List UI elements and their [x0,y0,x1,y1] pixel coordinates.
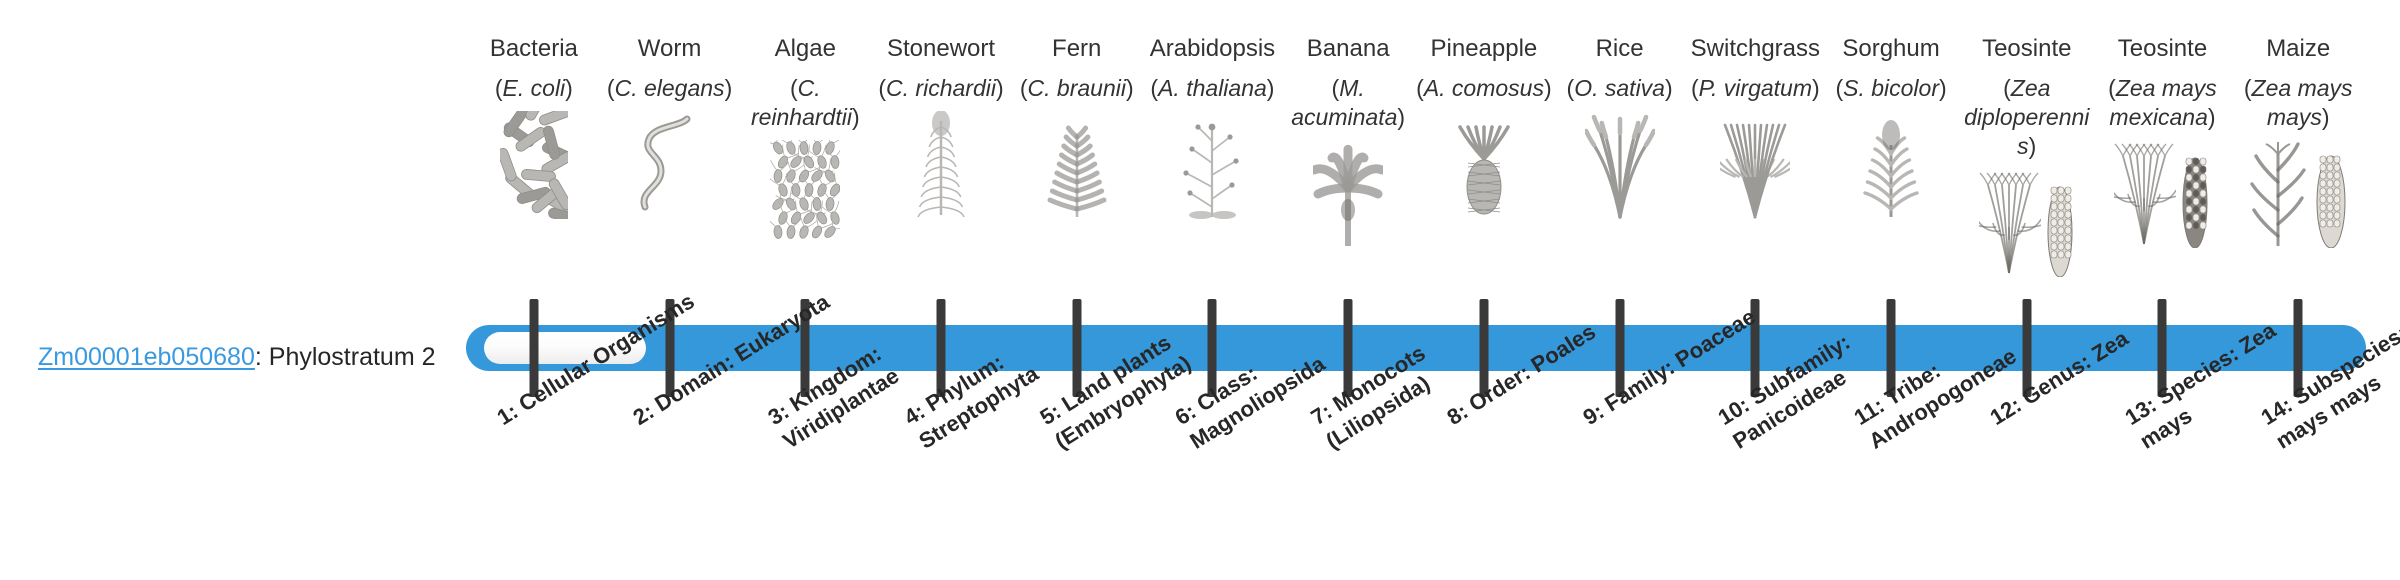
worm-icon [602,111,738,219]
taxon-column-sorghum-11: Sorghum(S. bicolor) [1823,34,1959,219]
maize-icon [2230,140,2366,248]
taxon-common-name: Bacteria [490,34,578,64]
taxon-common-name: Arabidopsis [1150,34,1275,64]
taxon-common-name: Pineapple [1431,34,1538,64]
taxon-latin-name: (Zea mays mexicana) [2095,74,2231,132]
rank-number: 2: [628,398,658,430]
pineapple-icon [1416,111,1552,219]
banana-icon [1280,140,1416,248]
taxon-column-stonewort-4: Stonewort(C. richardii) [873,34,1009,219]
taxon-latin-name: (C. elegans) [607,74,732,103]
taxon-column-fern-5: Fern(C. braunii) [1009,34,1145,219]
rank-number: 12: [1985,392,2025,430]
taxon-latin-name: (C. braunii) [1020,74,1134,103]
taxon-latin-name: (S. bicolor) [1835,74,1946,103]
taxon-column-bacteria-1: Bacteria(E. coli) [466,34,602,219]
gene-label-separator: : [255,343,269,371]
taxon-common-name: Fern [1052,34,1101,64]
taxon-column-worm-2: Worm(C. elegans) [602,34,738,219]
teosinte-icon [1959,169,2095,277]
taxon-common-name: Banana [1307,34,1390,64]
rank-number: 1: [492,398,522,430]
taxon-common-name: Stonewort [887,34,995,64]
rank-number: 8: [1442,398,1472,430]
taxon-column-switchgrass-10: Switchgrass(P. virgatum) [1687,34,1823,219]
rank-number: 9: [1578,398,1608,430]
taxon-common-name: Switchgrass [1691,34,1820,64]
bacteria-icon [466,111,602,219]
taxon-column-rice-9: Rice(O. sativa) [1552,34,1688,219]
taxon-latin-name: (C. reinhardtii) [737,74,873,132]
taxon-latin-name: (E. coli) [495,74,573,103]
algae-icon [737,140,873,248]
taxon-latin-name: (A. comosus) [1416,74,1552,103]
taxon-column-pineapple-8: Pineapple(A. comosus) [1416,34,1552,219]
arabidopsis-icon [1145,111,1281,219]
switchgrass-icon [1687,111,1823,219]
phylostratum-rank-labels: 1: Cellular Organisms2: Domain: Eukaryot… [466,408,2366,580]
taxon-latin-name: (Zea diploperennis) [1959,74,2095,161]
gene-phylostratum-label: Zm00001eb050680: Phylostratum 2 [38,340,436,374]
taxon-column-algae-3: Algae(C. reinhardtii) [737,34,873,248]
taxon-common-name: Maize [2266,34,2330,64]
sorghum-icon [1823,111,1959,219]
fern-icon [1009,111,1145,219]
taxon-latin-name: (Zea mays mays) [2230,74,2366,132]
stonewort-icon [873,111,1009,219]
taxon-common-name: Sorghum [1842,34,1939,64]
taxa-row: Bacteria(E. coli)Worm(C. elegans)Algae(C… [466,34,2366,304]
taxon-latin-name: (C. richardii) [878,74,1003,103]
taxon-column-teosinte-13: Teosinte(Zea mays mexicana) [2095,34,2231,248]
taxon-latin-name: (O. sativa) [1567,74,1673,103]
gene-accession-link[interactable]: Zm00001eb050680 [38,343,255,371]
taxon-latin-name: (P. virgatum) [1691,74,1820,103]
phylostratum-value: Phylostratum 2 [269,343,436,371]
teosinte-icon [2095,140,2231,248]
taxon-latin-name: (A. thaliana) [1150,74,1274,103]
taxon-latin-name: (M. acuminata) [1280,74,1416,132]
taxon-common-name: Teosinte [1982,34,2071,64]
taxon-common-name: Worm [638,34,702,64]
taxon-column-arabidopsis-6: Arabidopsis(A. thaliana) [1145,34,1281,219]
taxon-common-name: Algae [775,34,836,64]
rice-icon [1552,111,1688,219]
taxon-common-name: Teosinte [2118,34,2207,64]
taxon-column-teosinte-12: Teosinte(Zea diploperennis) [1959,34,2095,277]
taxon-column-banana-7: Banana(M. acuminata) [1280,34,1416,248]
taxon-common-name: Rice [1596,34,1644,64]
taxon-column-maize-14: Maize(Zea mays mays) [2230,34,2366,248]
